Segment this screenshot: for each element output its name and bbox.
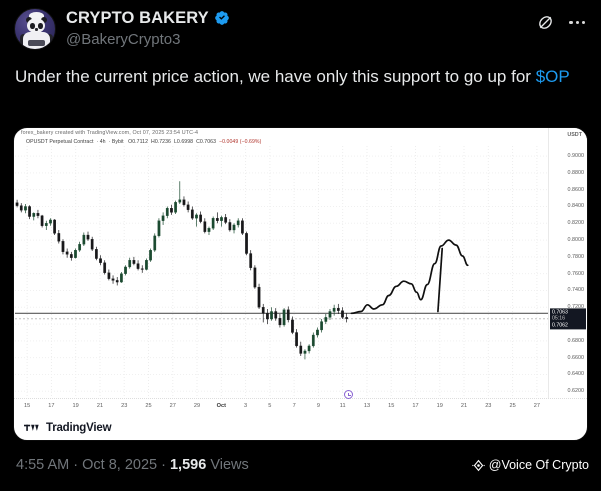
time-axis-tick: 7 [293, 403, 296, 409]
candle-body [279, 318, 281, 325]
price-axis[interactable]: USDT 0.90000.88000.86000.84000.82000.800… [548, 128, 587, 398]
candle-body [179, 200, 181, 203]
legend-symbol: OPUSDT Perpetual Contract [26, 139, 93, 145]
price-axis-tick: 0.8200 [568, 220, 585, 226]
legend-interval: 4h [100, 139, 106, 145]
candle-body [45, 223, 47, 226]
candle-body [266, 313, 268, 319]
price-axis-tick: 0.6400 [568, 371, 585, 377]
candle-body [120, 274, 122, 282]
author-names: CRYPTO BAKERY @BakeryCrypto3 [66, 8, 230, 50]
time-axis-tick: 29 [194, 403, 200, 409]
candle-body [308, 346, 310, 351]
candle-body [270, 311, 272, 319]
post-time: 4:55 AM [16, 457, 69, 473]
candle-body [129, 260, 131, 267]
source-watermark: @Voice Of Crypto [472, 458, 589, 472]
candle-body [250, 254, 252, 268]
candle-body [320, 322, 322, 330]
candle-body [37, 213, 39, 216]
candle-body [312, 335, 314, 346]
avatar[interactable] [14, 8, 56, 50]
candle-body [16, 203, 18, 206]
candle-body [212, 218, 214, 228]
candle-body [283, 310, 285, 325]
candle-body [141, 269, 143, 270]
display-name-row: CRYPTO BAKERY [66, 8, 230, 28]
time-axis-tick: 11 [340, 403, 346, 409]
candle-body [337, 308, 339, 311]
time-axis-tick: Oct [217, 403, 226, 409]
time-axis-tick: 3 [244, 403, 247, 409]
legend-close: 0.7063 [200, 139, 216, 145]
price-axis-tick: 0.6600 [568, 355, 585, 361]
time-axis-tick: 23 [121, 403, 127, 409]
candle-body [191, 210, 193, 218]
candle-body [58, 233, 60, 241]
candle-body [325, 317, 327, 321]
candle-body [258, 287, 260, 307]
views-count: 1,596 [170, 457, 206, 473]
candle-body [66, 252, 68, 255]
tradingview-label: TradingView [46, 422, 111, 434]
candle-body [49, 220, 51, 223]
candle-body [208, 228, 210, 231]
time-axis-tick: 19 [437, 403, 443, 409]
candlestick-series [16, 181, 348, 359]
candle-body [154, 236, 156, 250]
time-axis-tick: 19 [73, 403, 79, 409]
time-axis-tick: 21 [97, 403, 103, 409]
candle-body [158, 221, 160, 236]
candle-body [124, 267, 126, 274]
candle-body [224, 217, 226, 222]
candle-body [304, 351, 306, 354]
post-date: Oct 8, 2025 [82, 457, 157, 473]
price-axis-tick: 0.8800 [568, 170, 585, 176]
candle-body [204, 222, 206, 232]
time-axis-tick: 27 [534, 403, 540, 409]
chart-image-card[interactable]: forex_bakery created with TradingView.co… [13, 127, 588, 441]
price-axis-tick: 0.7800 [568, 254, 585, 260]
price-axis-tick: 0.6200 [568, 388, 585, 394]
candle-body [291, 320, 293, 333]
time-axis-tick: 17 [412, 403, 418, 409]
chart-canvas [15, 146, 549, 398]
candle-body [216, 218, 218, 221]
candle-body [199, 215, 201, 222]
candle-body [329, 311, 331, 317]
candle-body [275, 311, 277, 318]
legend-exchange: Bybit [112, 139, 124, 145]
candle-body [333, 308, 335, 311]
time-axis-tick: 27 [170, 403, 176, 409]
candle-body [108, 273, 110, 279]
candle-body [24, 206, 26, 210]
tweet-card: CRYPTO BAKERY @BakeryCrypto3 Under the c… [0, 0, 601, 491]
time-axis-tick: 15 [24, 403, 30, 409]
cashtag-link[interactable]: $OP [536, 67, 570, 86]
price-axis-tick: 0.9000 [568, 153, 585, 159]
display-name[interactable]: CRYPTO BAKERY [66, 8, 209, 28]
candle-body [220, 217, 222, 220]
tweet-text-main: Under the current price action, we have … [15, 67, 536, 86]
meta-sep-2: · [161, 457, 166, 473]
panda-eye-right [38, 23, 43, 29]
candle-body [166, 208, 168, 216]
candle-body [133, 260, 135, 263]
candle-body [70, 254, 72, 257]
candle-body [95, 249, 97, 258]
candle-body [237, 221, 239, 225]
time-axis[interactable]: 1517192123252729Oct357911131517192123252… [14, 398, 587, 420]
watermark-label: @Voice Of Crypto [489, 458, 589, 472]
time-axis-tick: 21 [461, 403, 467, 409]
header-actions [536, 13, 587, 32]
sparkle-diamond-icon [472, 459, 485, 472]
price-axis-tick: 0.8600 [568, 187, 585, 193]
time-axis-tick: 17 [48, 403, 54, 409]
candle-body [241, 221, 243, 234]
candle-body [62, 241, 64, 252]
candle-body [112, 279, 114, 281]
candle-body [91, 239, 93, 249]
candle-body [137, 264, 139, 269]
time-axis-tick: 15 [388, 403, 394, 409]
candle-body [287, 310, 289, 320]
tweet-meta: 4:55 AM · Oct 8, 2025 · 1,596 Views [16, 455, 249, 475]
candle-body [20, 206, 22, 211]
tradingview-logo-icon [24, 423, 41, 434]
candle-body [254, 268, 256, 287]
legend-low: 0.6998 [177, 139, 193, 145]
price-axis-tick: 0.8400 [568, 203, 585, 209]
last-price-tag[interactable]: 0.706305:160.7062 [550, 308, 586, 329]
views-label: Views [210, 457, 248, 473]
candle-body [74, 250, 76, 258]
time-axis-tick: 5 [268, 403, 271, 409]
tradingview-chart: forex_bakery created with TradingView.co… [14, 128, 587, 440]
time-axis-tick: 25 [509, 403, 515, 409]
candle-body [116, 280, 118, 282]
time-axis-tick: 25 [145, 403, 151, 409]
candle-body [28, 206, 30, 216]
candle-body [87, 235, 89, 239]
candle-body [103, 263, 105, 273]
candle-body [149, 250, 151, 260]
price-axis-tick: 0.8000 [568, 237, 585, 243]
price-axis-unit: USDT [567, 132, 582, 138]
candle-body [345, 317, 347, 318]
meta-sep-1: · [73, 457, 78, 473]
candle-body [83, 235, 85, 244]
candle-body [195, 215, 197, 218]
candle-body [174, 202, 176, 212]
candle-body [41, 216, 43, 226]
chart-plot-area[interactable] [15, 146, 549, 398]
time-axis-tick: 13 [364, 403, 370, 409]
legend-high: 0.7236 [155, 139, 171, 145]
author-handle[interactable]: @BakeryCrypto3 [66, 30, 230, 50]
candle-body [78, 244, 80, 250]
candle-body [316, 330, 318, 335]
clock-marker-icon[interactable] [344, 390, 353, 399]
candle-body [229, 222, 231, 230]
price-tag-bid: 0.7062 [552, 322, 584, 328]
price-axis-tick: 0.7600 [568, 271, 585, 277]
time-axis-tick: 23 [485, 403, 491, 409]
chart-attribution: forex_bakery created with TradingView.co… [21, 130, 198, 136]
tradingview-brand[interactable]: TradingView [24, 422, 111, 434]
candle-body [295, 332, 297, 345]
dot [576, 21, 579, 24]
candle-body [245, 233, 247, 253]
grok-icon[interactable] [536, 13, 555, 32]
tweet-header: CRYPTO BAKERY @BakeryCrypto3 [14, 8, 587, 56]
price-axis-tick: 0.7400 [568, 287, 585, 293]
candle-body [233, 225, 235, 230]
candle-body [53, 220, 55, 233]
more-options-icon[interactable] [567, 17, 587, 28]
candle-body [99, 259, 101, 263]
panda-eye-left [30, 23, 35, 29]
panda-snout [35, 28, 38, 31]
tweet-body-text: Under the current price action, we have … [15, 66, 585, 88]
dot [569, 21, 572, 24]
bakery-tray [28, 40, 45, 46]
candle-body [341, 311, 343, 318]
verified-badge-icon [214, 10, 230, 26]
candle-body [187, 205, 189, 210]
candle-body [262, 307, 264, 313]
candle-body [33, 213, 35, 216]
candle-body [183, 200, 185, 205]
projection-drawing[interactable] [351, 240, 467, 313]
time-axis-tick: 9 [317, 403, 320, 409]
chart-legend: OPUSDT Perpetual Contract · 4h · Bybit O… [26, 139, 261, 145]
legend-change: −0.0049 (−0.69%) [219, 139, 261, 145]
dot [582, 21, 585, 24]
candle-body [162, 216, 164, 221]
candle-body [145, 260, 147, 269]
candle-body [300, 346, 302, 354]
candle-body [170, 208, 172, 212]
legend-open: 0.7112 [132, 139, 148, 145]
price-axis-tick: 0.6800 [568, 338, 585, 344]
